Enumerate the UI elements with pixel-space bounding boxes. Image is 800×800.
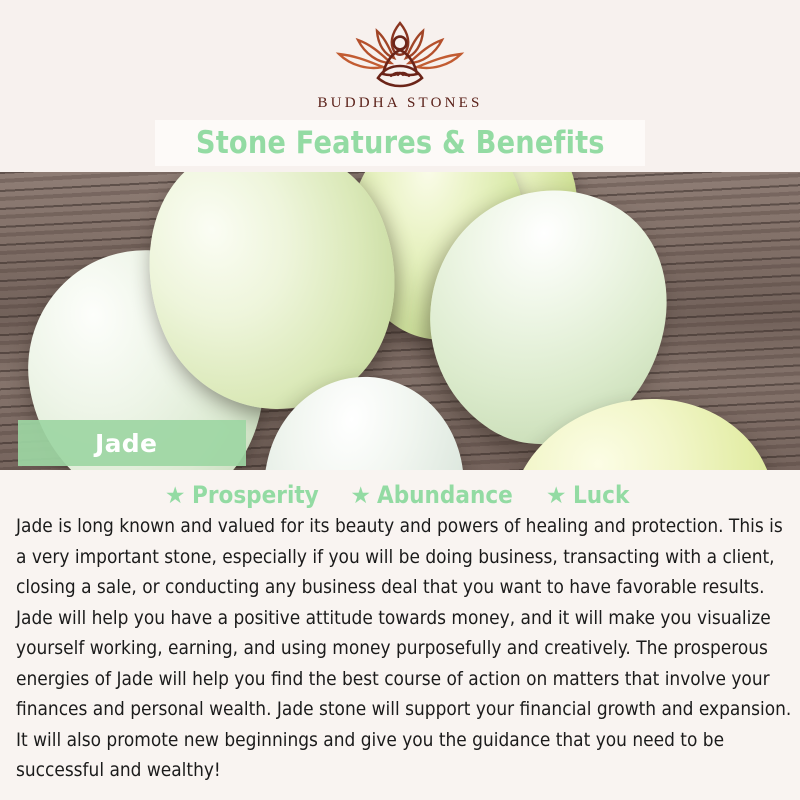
benefit-item-luck: ★ Luck [546, 481, 635, 509]
benefit-label: Prosperity [192, 481, 319, 509]
stone-name-badge: Jade [18, 420, 246, 466]
star-icon: ★ [546, 484, 567, 507]
content-section: ★ Prosperity ★ Abundance ★ Luck Jade is … [0, 470, 800, 800]
infographic-page: BUDDHA STONES Stone Features & Benefits … [0, 0, 800, 800]
benefits-row: ★ Prosperity ★ Abundance ★ Luck [0, 470, 800, 510]
stone-name-label: Jade [95, 429, 157, 458]
lotus-meditation-icon [325, 18, 475, 90]
page-title: Stone Features & Benefits [196, 125, 605, 161]
benefit-label: Abundance [377, 481, 513, 509]
star-icon: ★ [165, 484, 186, 507]
benefit-item-abundance: ★ Abundance [350, 481, 528, 509]
brand-logo: BUDDHA STONES [0, 18, 800, 112]
description-text: Jade is long known and valued for its be… [16, 512, 798, 787]
title-banner: Stone Features & Benefits [155, 120, 645, 166]
brand-name: BUDDHA STONES [317, 95, 482, 112]
star-icon: ★ [350, 484, 371, 507]
benefit-item-prosperity: ★ Prosperity [165, 481, 332, 509]
benefit-label: Luck [573, 481, 629, 509]
